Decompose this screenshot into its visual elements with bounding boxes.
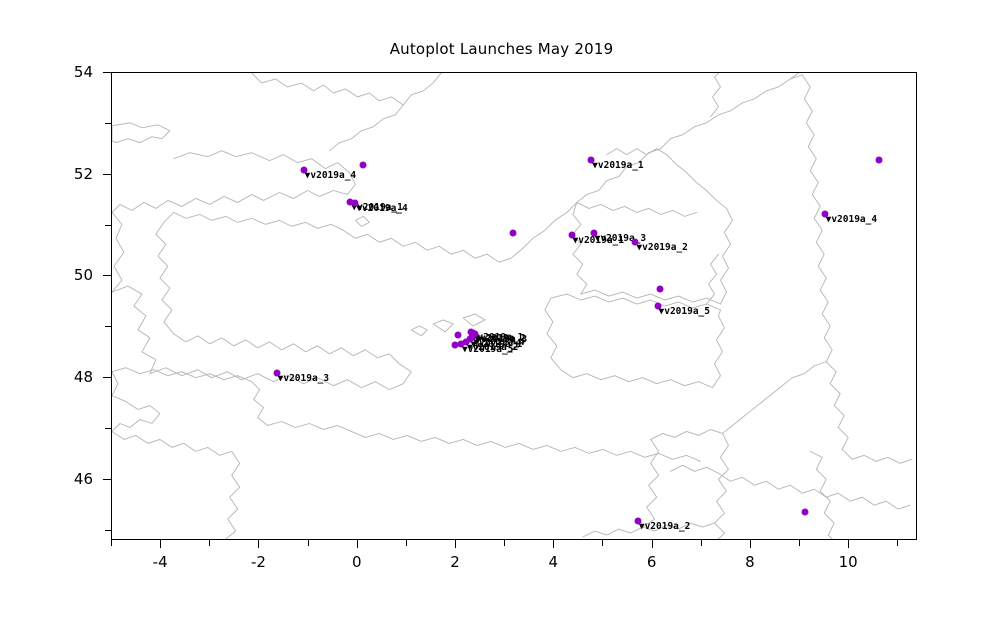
x-tick-major (553, 540, 554, 548)
scatter-point[interactable] (875, 157, 882, 164)
scatter-point-label: ▼v2019a_3 (278, 374, 329, 384)
scatter-point[interactable] (801, 509, 808, 516)
y-tick-major (103, 174, 111, 175)
y-tick-label: 50 (13, 266, 100, 284)
y-tick-label: 54 (13, 63, 100, 81)
x-tick-minor (209, 540, 210, 546)
x-tick-minor (504, 540, 505, 546)
x-tick-major (848, 540, 849, 548)
x-tick-minor (897, 540, 898, 546)
x-tick-major (750, 540, 751, 548)
scatter-point-label: ▼v2019a_2 (639, 522, 690, 532)
x-tick-major (160, 540, 161, 548)
scatter-point-label: ▼v2019a_4 (826, 215, 877, 225)
scatter-plot-axes: ▼v2019a_4▼v2019a_1▼v2019a_4▼v2019a_1▼v20… (111, 72, 917, 540)
x-tick-label: -2 (228, 553, 288, 571)
y-tick-minor (105, 428, 111, 429)
x-tick-label: 2 (425, 553, 485, 571)
x-tick-minor (406, 540, 407, 546)
x-tick-major (258, 540, 259, 548)
y-tick-major (103, 479, 111, 480)
scatter-point[interactable] (452, 342, 459, 349)
y-tick-major (103, 72, 111, 73)
x-tick-label: 10 (818, 553, 878, 571)
y-tick-major (103, 377, 111, 378)
scatter-point[interactable] (509, 230, 516, 237)
scatter-point-label: ▼v2019a_4 (305, 171, 356, 181)
scatter-point-label: ▼v2019a_4 (356, 204, 407, 214)
y-tick-minor (105, 530, 111, 531)
x-tick-label: 6 (622, 553, 682, 571)
scatter-point[interactable] (455, 331, 462, 338)
data-points-layer: ▼v2019a_4▼v2019a_1▼v2019a_4▼v2019a_1▼v20… (112, 73, 916, 539)
y-tick-label: 52 (13, 165, 100, 183)
x-tick-label: 8 (720, 553, 780, 571)
x-tick-minor (799, 540, 800, 546)
y-tick-minor (105, 123, 111, 124)
y-tick-label: 46 (13, 470, 100, 488)
page-title: Autoplot Launches May 2019 (0, 40, 1003, 58)
y-tick-label: 48 (13, 368, 100, 386)
x-tick-minor (701, 540, 702, 546)
scatter-point-label: ▼v2019a_1 (592, 161, 643, 171)
x-tick-minor (111, 540, 112, 546)
x-tick-label: -4 (130, 553, 190, 571)
x-tick-minor (602, 540, 603, 546)
scatter-point[interactable] (656, 286, 663, 293)
x-tick-major (652, 540, 653, 548)
y-tick-major (103, 275, 111, 276)
x-tick-label: 0 (327, 553, 387, 571)
scatter-point-label: ▼v2019a_5 (659, 307, 710, 317)
y-tick-minor (105, 225, 111, 226)
y-tick-minor (105, 326, 111, 327)
x-tick-minor (308, 540, 309, 546)
scatter-point-label: ▼v2019a_5 (462, 345, 513, 355)
figure-canvas: Autoplot Launches May 2019 (0, 0, 1003, 633)
scatter-point[interactable] (359, 161, 366, 168)
scatter-point-label: ▼v2019a_2 (636, 243, 687, 253)
x-tick-major (455, 540, 456, 548)
x-tick-label: 4 (523, 553, 583, 571)
x-tick-major (357, 540, 358, 548)
